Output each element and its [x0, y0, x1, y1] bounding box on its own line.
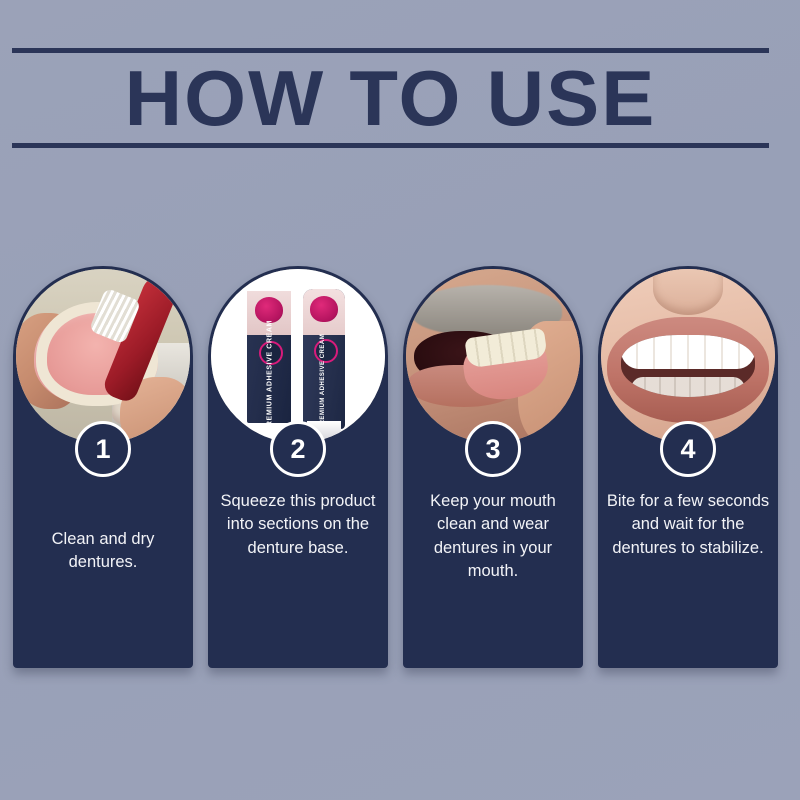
product-tube-label: PREMIUM ADHESIVE CREAM — [320, 341, 328, 429]
step-card-1: 1 Clean and dry dentures. — [13, 266, 193, 668]
step-card-3: 3 Keep your mouth clean and wear denture… — [403, 266, 583, 668]
how-to-use-poster: HOW TO USE 1 Clean and dry — [0, 0, 800, 800]
step-2-number-badge: 2 — [270, 421, 326, 477]
product-box-logo-icon — [255, 297, 283, 323]
step-card-4: 4 Bite for a few seconds and wait for th… — [598, 266, 778, 668]
header-bottom-rule — [12, 143, 769, 148]
step-1-photo — [16, 269, 190, 443]
step-card-2: PREMIUM ADHESIVE CREAM PREMIUM ADHESIVE … — [208, 266, 388, 668]
product-box-label: PREMIUM ADHESIVE CREAM — [267, 335, 276, 431]
step-1-caption: Clean and dry dentures. — [21, 528, 185, 575]
lower-teeth-icon — [631, 377, 745, 397]
product-tube-header-panel — [303, 289, 345, 335]
upper-teeth-icon — [621, 335, 755, 369]
step-2-caption: Squeeze this product into sections on th… — [216, 490, 380, 560]
product-tube-logo-icon — [310, 296, 338, 322]
product-tube-icon: PREMIUM ADHESIVE CREAM — [303, 289, 345, 429]
product-white-background — [211, 269, 385, 443]
step-3-number-badge: 3 — [465, 421, 521, 477]
step-3-caption: Keep your mouth clean and wear dentures … — [411, 490, 575, 584]
poster-header: HOW TO USE — [12, 48, 769, 148]
step-1-number-badge: 1 — [75, 421, 131, 477]
mouth-icon — [621, 335, 755, 397]
steps-container: 1 Clean and dry dentures. PREMIUM ADHESI… — [13, 266, 787, 676]
step-2-photo: PREMIUM ADHESIVE CREAM PREMIUM ADHESIVE … — [211, 269, 385, 443]
denture-cleaning-illustration — [16, 269, 190, 443]
page-title: HOW TO USE — [4, 53, 776, 143]
step-4-caption: Bite for a few seconds and wait for the … — [606, 490, 770, 560]
product-package-illustration: PREMIUM ADHESIVE CREAM PREMIUM ADHESIVE … — [211, 269, 385, 443]
step-3-photo — [406, 269, 580, 443]
inserting-denture-illustration — [406, 269, 580, 443]
step-4-number-badge: 4 — [660, 421, 716, 477]
step-4-photo — [601, 269, 775, 443]
product-box-icon: PREMIUM ADHESIVE CREAM — [247, 291, 291, 423]
smile-illustration — [601, 269, 775, 443]
